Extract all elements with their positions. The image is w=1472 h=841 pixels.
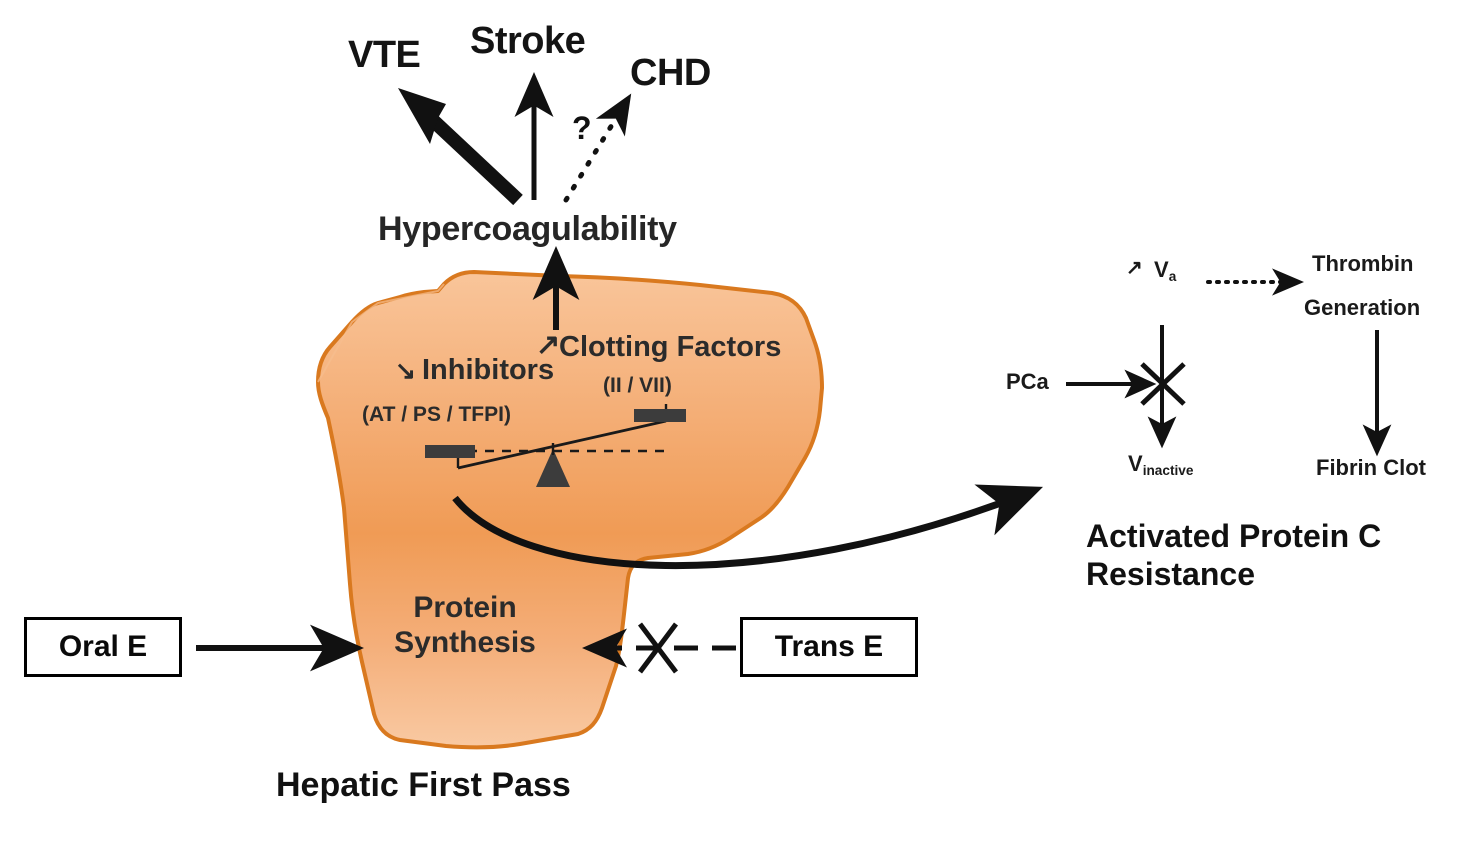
apc-resistance-title-line1: Activated Protein C xyxy=(1086,518,1381,556)
oral-e-label: Oral E xyxy=(59,630,147,664)
input-box-oral-e[interactable]: Oral E xyxy=(24,617,182,677)
apc-resistance-title-line2: Resistance xyxy=(1086,556,1381,594)
hypercoagulability-label: Hypercoagulability xyxy=(378,212,677,248)
va-label-text: V xyxy=(1154,257,1169,282)
caption-hepatic-first-pass: Hepatic First Pass xyxy=(276,768,571,804)
inhibitors-label: Inhibitors xyxy=(422,355,554,385)
protein-synthesis-label: Protein Synthesis xyxy=(370,590,560,661)
v-inactive-label: Vinactive xyxy=(1128,452,1193,475)
v-inactive-label-sub: inactive xyxy=(1143,463,1194,478)
balance-pan-left xyxy=(425,445,475,458)
uncertainty-question-mark: ? xyxy=(572,112,592,146)
fibrin-clot-label: Fibrin Clot xyxy=(1316,456,1426,479)
clotting-factors-label: Clotting Factors xyxy=(559,332,781,362)
va-label-sub: a xyxy=(1169,269,1177,284)
outcome-label-stroke: Stroke xyxy=(470,22,585,62)
protein-synthesis-line2: Synthesis xyxy=(370,625,560,660)
thrombin-generation-line2: Generation xyxy=(1304,296,1420,319)
va-increase-arrow-icon: ↗ xyxy=(1126,258,1143,279)
thrombin-generation-line1: Thrombin xyxy=(1312,252,1413,275)
outcome-label-vte: VTE xyxy=(348,36,420,76)
inhibitors-sublabel: (AT / PS / TFPI) xyxy=(362,404,511,426)
apc-resistance-title: Activated Protein C Resistance xyxy=(1086,518,1381,594)
trans-e-label: Trans E xyxy=(775,630,883,664)
pca-label: PCa xyxy=(1006,370,1049,393)
clotting-factors-sublabel: (II / VII) xyxy=(603,375,672,397)
va-label: Va xyxy=(1154,258,1176,281)
balance-pan-right xyxy=(634,409,686,422)
diagram-vector-layer xyxy=(0,0,1472,841)
v-inactive-label-text: V xyxy=(1128,451,1143,476)
arrow-hyper-to-vte xyxy=(398,88,518,200)
input-box-trans-e[interactable]: Trans E xyxy=(740,617,918,677)
inhibitors-arrow-icon: ↘ xyxy=(395,358,416,384)
outcome-label-chd: CHD xyxy=(630,54,711,94)
diagram-canvas: VTE Stroke CHD ? Hypercoagulability ↗ Cl… xyxy=(0,0,1472,841)
protein-synthesis-line1: Protein xyxy=(370,590,560,625)
